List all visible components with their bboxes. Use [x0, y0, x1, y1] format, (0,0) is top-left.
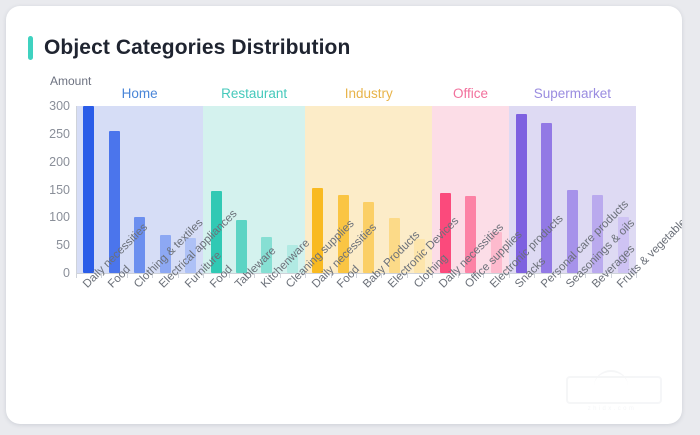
x-tick: [407, 273, 408, 278]
x-tick: [534, 273, 535, 278]
watermark-text: zhidx.com: [560, 406, 664, 412]
page-title: Object Categories Distribution: [44, 36, 350, 60]
x-tick: [280, 273, 281, 278]
y-tick-label: 150: [49, 184, 70, 197]
x-tick: [178, 273, 179, 278]
x-tick: [560, 273, 561, 278]
x-tick: [203, 273, 204, 278]
y-axis-tick-labels: 050100150200250300: [34, 98, 70, 281]
y-tick-label: 200: [49, 156, 70, 169]
x-tick: [331, 273, 332, 278]
group-label-row: HomeRestaurantIndustryOfficeSupermarket: [76, 86, 636, 102]
x-tick: [127, 273, 128, 278]
bar[interactable]: [185, 238, 196, 273]
card-header: Object Categories Distribution: [28, 36, 350, 60]
bar[interactable]: [312, 188, 323, 273]
bar[interactable]: [440, 193, 451, 273]
group-label-industry: Industry: [345, 86, 393, 101]
x-tick: [381, 273, 382, 278]
bar[interactable]: [414, 239, 425, 274]
x-tick: [611, 273, 612, 278]
x-tick: [229, 273, 230, 278]
bar-series: [76, 106, 636, 273]
y-tick-label: 50: [56, 239, 70, 252]
x-tick: [458, 273, 459, 278]
bar[interactable]: [491, 232, 502, 273]
chart-card: Object Categories Distribution Amount 05…: [6, 6, 682, 424]
bar[interactable]: [338, 195, 349, 273]
x-axis-ticks: [76, 273, 637, 279]
group-label-office: Office: [453, 86, 488, 101]
bar[interactable]: [134, 217, 145, 273]
bar[interactable]: [211, 191, 222, 273]
bar[interactable]: [236, 220, 247, 273]
bar[interactable]: [363, 202, 374, 273]
y-tick-label: 300: [49, 100, 70, 113]
x-tick: [585, 273, 586, 278]
bar[interactable]: [618, 217, 629, 273]
x-tick: [356, 273, 357, 278]
group-label-supermarket: Supermarket: [534, 86, 611, 101]
bar[interactable]: [83, 106, 94, 273]
x-tick: [76, 273, 77, 278]
bar[interactable]: [516, 114, 527, 273]
bar[interactable]: [389, 218, 400, 273]
group-label-home: Home: [122, 86, 158, 101]
bar[interactable]: [287, 245, 298, 273]
x-tick: [432, 273, 433, 278]
bar[interactable]: [160, 235, 171, 273]
x-tick: [483, 273, 484, 278]
bar[interactable]: [109, 131, 120, 273]
group-label-restaurant: Restaurant: [221, 86, 287, 101]
y-tick-label: 100: [49, 211, 70, 224]
title-accent-bar: [28, 36, 33, 60]
bar[interactable]: [261, 237, 272, 273]
plot-area: [76, 106, 636, 273]
watermark-logo-box: [566, 376, 662, 404]
bar[interactable]: [567, 190, 578, 274]
y-tick-label: 0: [63, 267, 70, 280]
x-tick: [254, 273, 255, 278]
x-tick: [101, 273, 102, 278]
watermark: zhidx.com: [560, 374, 664, 412]
y-tick-label: 250: [49, 128, 70, 141]
bar[interactable]: [592, 195, 603, 273]
bar[interactable]: [541, 123, 552, 273]
x-tick: [636, 273, 637, 278]
bar[interactable]: [465, 196, 476, 273]
y-axis-line: [76, 106, 77, 273]
x-tick: [152, 273, 153, 278]
x-tick: [509, 273, 510, 278]
x-tick: [305, 273, 306, 278]
